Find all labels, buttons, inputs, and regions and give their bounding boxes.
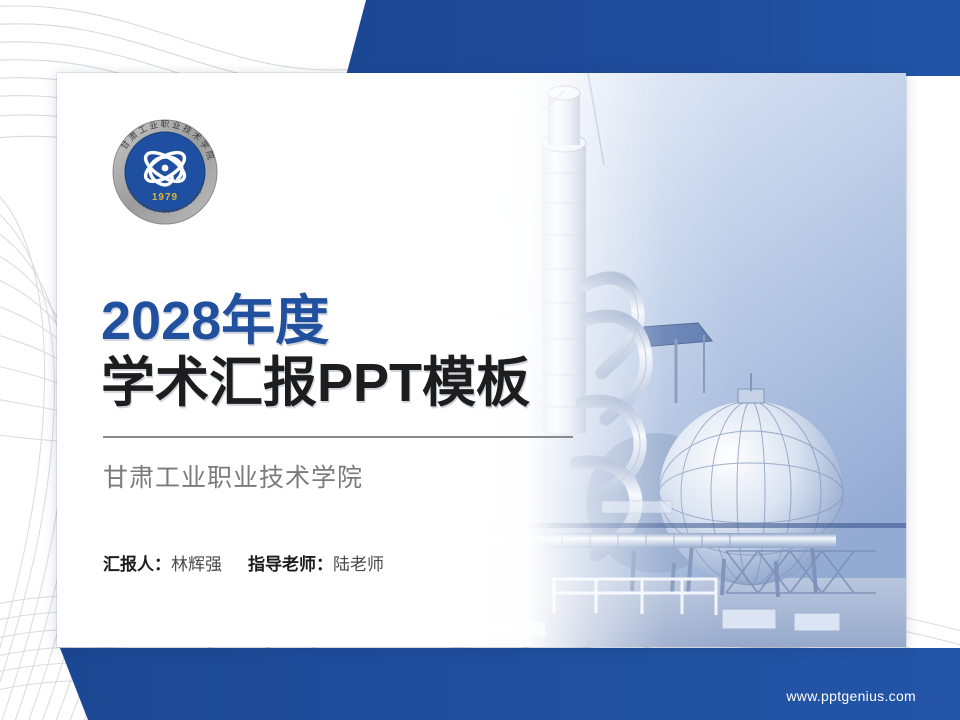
title-year: 2028年度 [101,293,621,349]
institution-name: 甘肃工业职业技术学院 [103,458,621,494]
presenters-line: 汇报人：林辉强指导老师：陆老师 [103,550,621,575]
footer-website-url[interactable]: www.pptgenius.com [786,688,916,704]
advisor-name: 陆老师 [333,555,384,574]
title-main: 学术汇报PPT模板 [101,353,621,413]
svg-text:1979: 1979 [152,192,178,203]
college-logo: 甘肃工业职业技术学院 Gansu Industry Polytechnic Co… [105,112,225,232]
reporter-name: 林辉强 [171,555,222,574]
reporter-label: 汇报人： [103,555,171,574]
title-block: 2028年度 学术汇报PPT模板 甘肃工业职业技术学院 汇报人：林辉强指导老师：… [101,293,621,575]
title-divider [103,436,573,438]
slide-card: 甘肃工业职业技术学院 Gansu Industry Polytechnic Co… [57,73,906,647]
advisor-label: 指导老师： [248,555,333,574]
presentation-slide: 甘肃工业职业技术学院 Gansu Industry Polytechnic Co… [0,0,960,720]
